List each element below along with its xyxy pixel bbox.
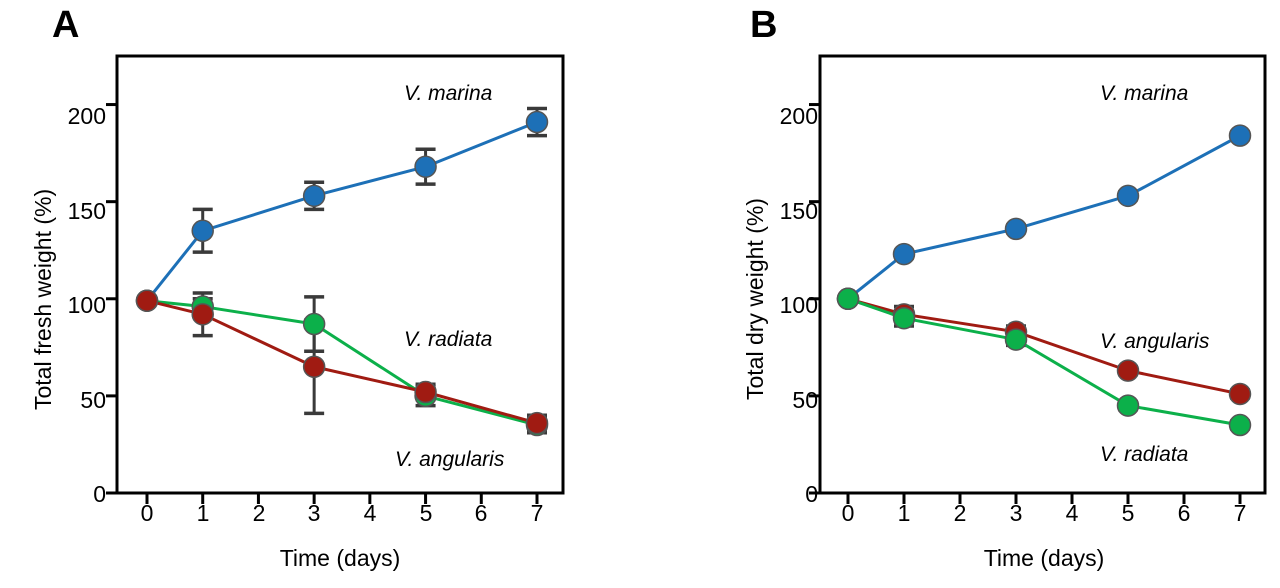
panel-a-xtick-5: 5: [406, 500, 446, 527]
data-point-marker: [894, 244, 915, 265]
plot-frame: [117, 56, 563, 493]
panel-b-label-angularis: V. angularis: [1100, 330, 1209, 354]
panel-a-xtick-3: 3: [294, 500, 334, 527]
panel-a-ytick-0: 0: [48, 481, 106, 508]
data-point-marker: [415, 382, 436, 403]
panel-a-yaxis-title: Total fresh weight (%): [30, 189, 57, 410]
panel-a-label-angularis: V. angularis: [395, 448, 504, 472]
panel-b-xtick-6: 6: [1164, 500, 1204, 527]
panel-b-xtick-0: 0: [828, 500, 868, 527]
data-point-marker: [1006, 218, 1027, 239]
panel-b-label-marina: V. marina: [1100, 82, 1188, 106]
data-point-marker: [1118, 360, 1139, 381]
panel-a-xtick-4: 4: [350, 500, 390, 527]
data-point-marker: [192, 304, 213, 325]
panel-a-xtick-1: 1: [183, 500, 223, 527]
data-point-marker: [137, 290, 158, 311]
data-point-marker: [304, 185, 325, 206]
panel-a: A 200 150 100 50 0 0 1 2 3 4 5 6 7 Time …: [0, 0, 640, 588]
data-point-marker: [1230, 415, 1251, 436]
panel-a-ytick-200: 200: [48, 103, 106, 130]
panel-a-xtick-6: 6: [461, 500, 501, 527]
panel-b-xtick-1: 1: [884, 500, 924, 527]
data-point-marker: [1230, 383, 1251, 404]
data-point-marker: [1006, 329, 1027, 350]
panel-b-xtick-5: 5: [1108, 500, 1148, 527]
data-point-marker: [527, 413, 548, 434]
panel-b: B 200 150 100 50 0 0 1 2 3 4 5 6 7 Time …: [640, 0, 1280, 588]
data-point-marker: [192, 220, 213, 241]
panel-a-xtick-2: 2: [239, 500, 279, 527]
series-line: [848, 136, 1240, 299]
data-point-marker: [304, 356, 325, 377]
panel-a-xaxis-title: Time (days): [230, 545, 450, 572]
panel-a-xtick-7: 7: [517, 500, 557, 527]
data-point-marker: [1230, 125, 1251, 146]
panel-a-label-marina: V. marina: [404, 82, 492, 106]
panel-b-ytick-200: 200: [760, 103, 818, 130]
series-line: [147, 122, 537, 301]
data-point-marker: [304, 314, 325, 335]
panel-b-xtick-3: 3: [996, 500, 1036, 527]
panel-b-xtick-7: 7: [1220, 500, 1260, 527]
panel-b-label-radiata: V. radiata: [1100, 443, 1188, 467]
panel-b-xtick-4: 4: [1052, 500, 1092, 527]
data-point-marker: [894, 308, 915, 329]
panel-a-xtick-0: 0: [127, 500, 167, 527]
panel-b-xtick-2: 2: [940, 500, 980, 527]
data-point-marker: [838, 288, 859, 309]
figure-container: A 200 150 100 50 0 0 1 2 3 4 5 6 7 Time …: [0, 0, 1280, 588]
data-point-marker: [1118, 395, 1139, 416]
data-point-marker: [527, 112, 548, 133]
panel-b-xaxis-title: Time (days): [934, 545, 1154, 572]
panel-b-ytick-0: 0: [760, 481, 818, 508]
panel-b-yaxis-title: Total dry weight (%): [742, 198, 769, 400]
data-point-marker: [415, 156, 436, 177]
data-point-marker: [1118, 185, 1139, 206]
panel-a-label-radiata: V. radiata: [404, 328, 492, 352]
plot-frame: [820, 56, 1265, 493]
